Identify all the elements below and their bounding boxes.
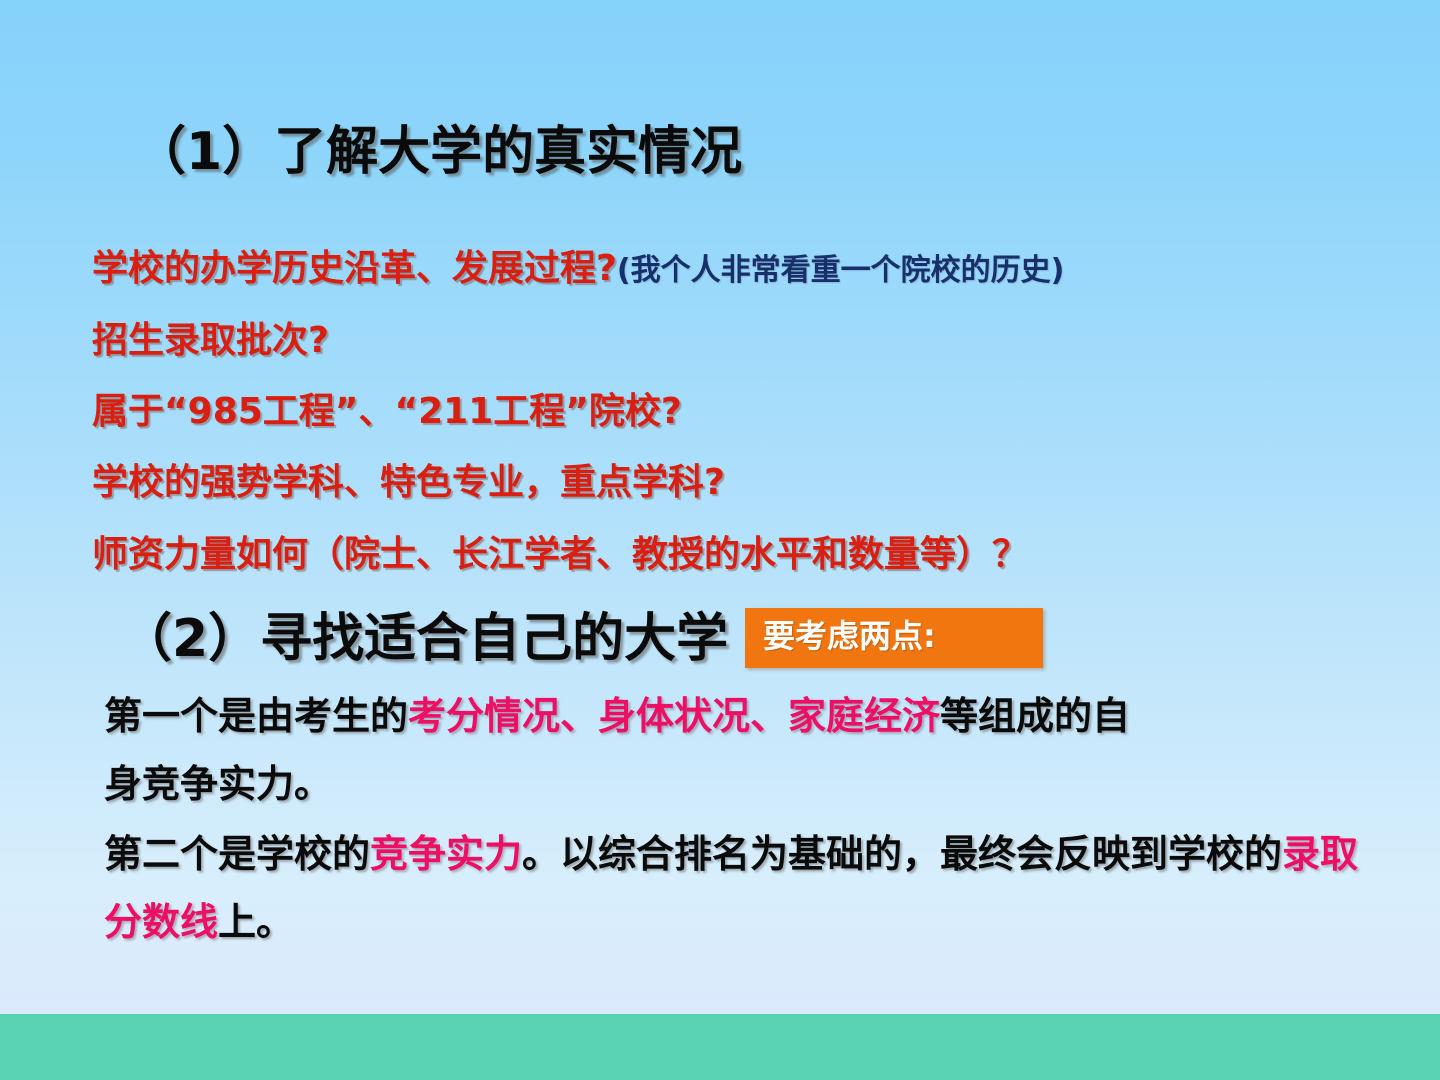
question-item-4: 学校的强势学科、特色专业，重点学科?: [92, 465, 725, 501]
point-two-line-2: 分数线上。: [104, 903, 294, 941]
point-two-line-2-highlight: 分数线: [104, 900, 218, 944]
question-item-2-text: 招生录取批次?: [92, 320, 329, 361]
point-one-suffix: 等组成的自: [940, 694, 1130, 738]
point-two-line-2-suffix: 上。: [218, 900, 294, 944]
callout-box: 要考虑两点:: [745, 608, 1043, 668]
question-item-4-text: 学校的强势学科、特色专业，重点学科?: [92, 462, 725, 503]
point-two-highlight-2: 录取: [1282, 832, 1358, 876]
section-two-heading: （2）寻找适合自己的大学: [120, 613, 728, 665]
slide-canvas: （1）了解大学的真实情况 学校的办学历史沿革、发展过程?(我个人非常看重一个院校…: [0, 0, 1440, 1080]
question-item-3-text: 属于“985工程”、“211工程”院校?: [92, 391, 682, 432]
point-one-highlight: 考分情况、身体状况、家庭经济: [408, 694, 940, 738]
point-two-highlight: 竞争实力: [370, 832, 522, 876]
question-item-1: 学校的办学历史沿革、发展过程?(我个人非常看重一个院校的历史): [92, 251, 1064, 287]
point-one-line-2: 身竞争实力。: [104, 765, 332, 803]
bottom-accent-band: [0, 1014, 1440, 1080]
question-item-5-text: 师资力量如何（院士、长江学者、教授的水平和数量等）？: [92, 534, 1028, 575]
question-item-5: 师资力量如何（院士、长江学者、教授的水平和数量等）？: [92, 537, 1028, 573]
question-item-3: 属于“985工程”、“211工程”院校?: [92, 394, 682, 430]
question-item-1-note: (我个人非常看重一个院校的历史): [617, 253, 1064, 288]
point-two-line-1: 第二个是学校的竞争实力。以综合排名为基础的，最终会反映到学校的录取: [104, 835, 1358, 873]
point-one-prefix: 第一个是由考生的: [104, 694, 408, 738]
section-one-heading: （1）了解大学的真实情况: [134, 126, 742, 178]
callout-label: 要考虑两点:: [763, 619, 936, 654]
point-one-line-1: 第一个是由考生的考分情况、身体状况、家庭经济等组成的自: [104, 697, 1130, 735]
point-two-prefix: 第二个是学校的: [104, 832, 370, 876]
question-item-2: 招生录取批次?: [92, 323, 329, 359]
question-item-1-text: 学校的办学历史沿革、发展过程?: [92, 248, 617, 289]
point-two-middle: 。以综合排名为基础的，最终会反映到学校的: [522, 832, 1282, 876]
